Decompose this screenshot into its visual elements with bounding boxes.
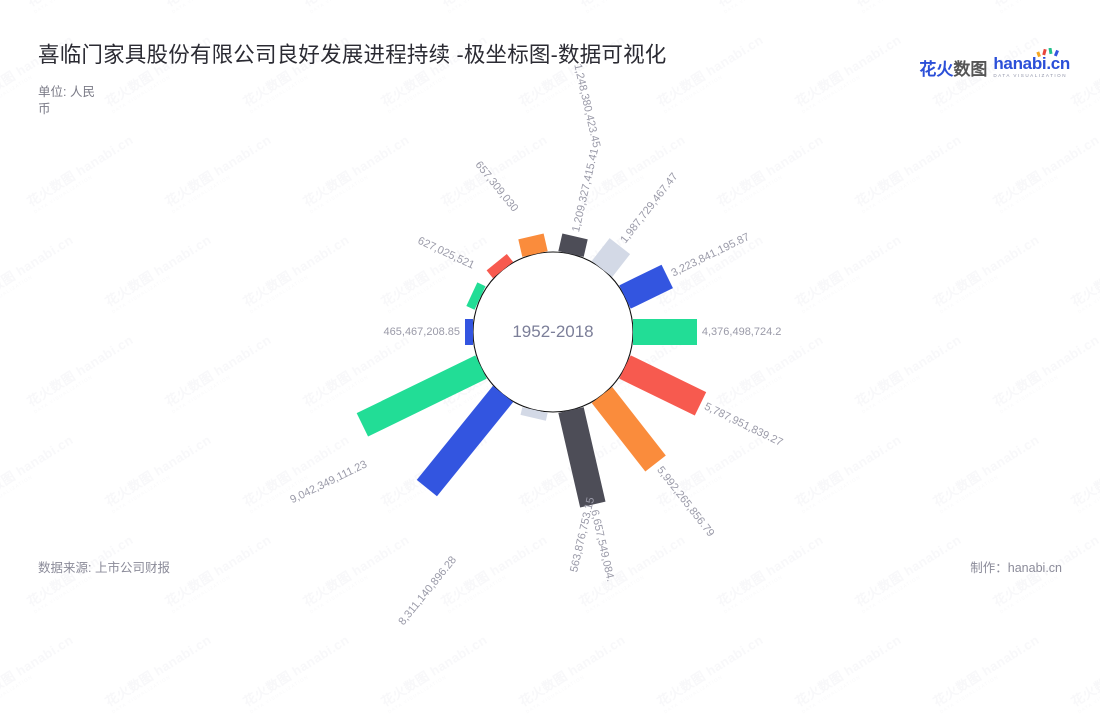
bar-segment[interactable] bbox=[633, 319, 697, 345]
watermark-tile: 花火数图 hanabi.cnDATA VISUALIZATION bbox=[653, 630, 769, 714]
credit-note: 制作：hanabi.cn bbox=[970, 557, 1062, 576]
bar-value-label: 4,376,498,724.2 bbox=[702, 326, 782, 338]
source-note: 数据来源: 上市公司财报 bbox=[38, 557, 170, 576]
center-label: 1952-2018 bbox=[512, 322, 593, 342]
watermark-tile: 花火数图 hanabi.cnDATA VISUALIZATION bbox=[239, 630, 355, 714]
watermark-tile: 花火数图 hanabi.cnDATA VISUALIZATION bbox=[929, 630, 1045, 714]
bar-value-label: 465,467,208.85 bbox=[384, 326, 460, 338]
watermark-tile: 花火数图 hanabi.cnDATA VISUALIZATION bbox=[1067, 630, 1100, 714]
watermark-tile: 花火数图 hanabi.cnDATA VISUALIZATION bbox=[0, 630, 79, 714]
inner-circle-ring bbox=[0, 0, 1100, 620]
bar-segment[interactable] bbox=[465, 319, 473, 345]
polar-chart: 喜临门家具股份有限公司良好发展进程持续 -极坐标图-数据可视化 单位: 人民币 … bbox=[0, 0, 1100, 620]
watermark-tile: 花火数图 hanabi.cnDATA VISUALIZATION bbox=[101, 630, 217, 714]
watermark-tile: 花火数图 hanabi.cnDATA VISUALIZATION bbox=[791, 630, 907, 714]
watermark-tile: 花火数图 hanabi.cnDATA VISUALIZATION bbox=[377, 630, 493, 714]
watermark-tile: 花火数图 hanabi.cnDATA VISUALIZATION bbox=[515, 630, 631, 714]
